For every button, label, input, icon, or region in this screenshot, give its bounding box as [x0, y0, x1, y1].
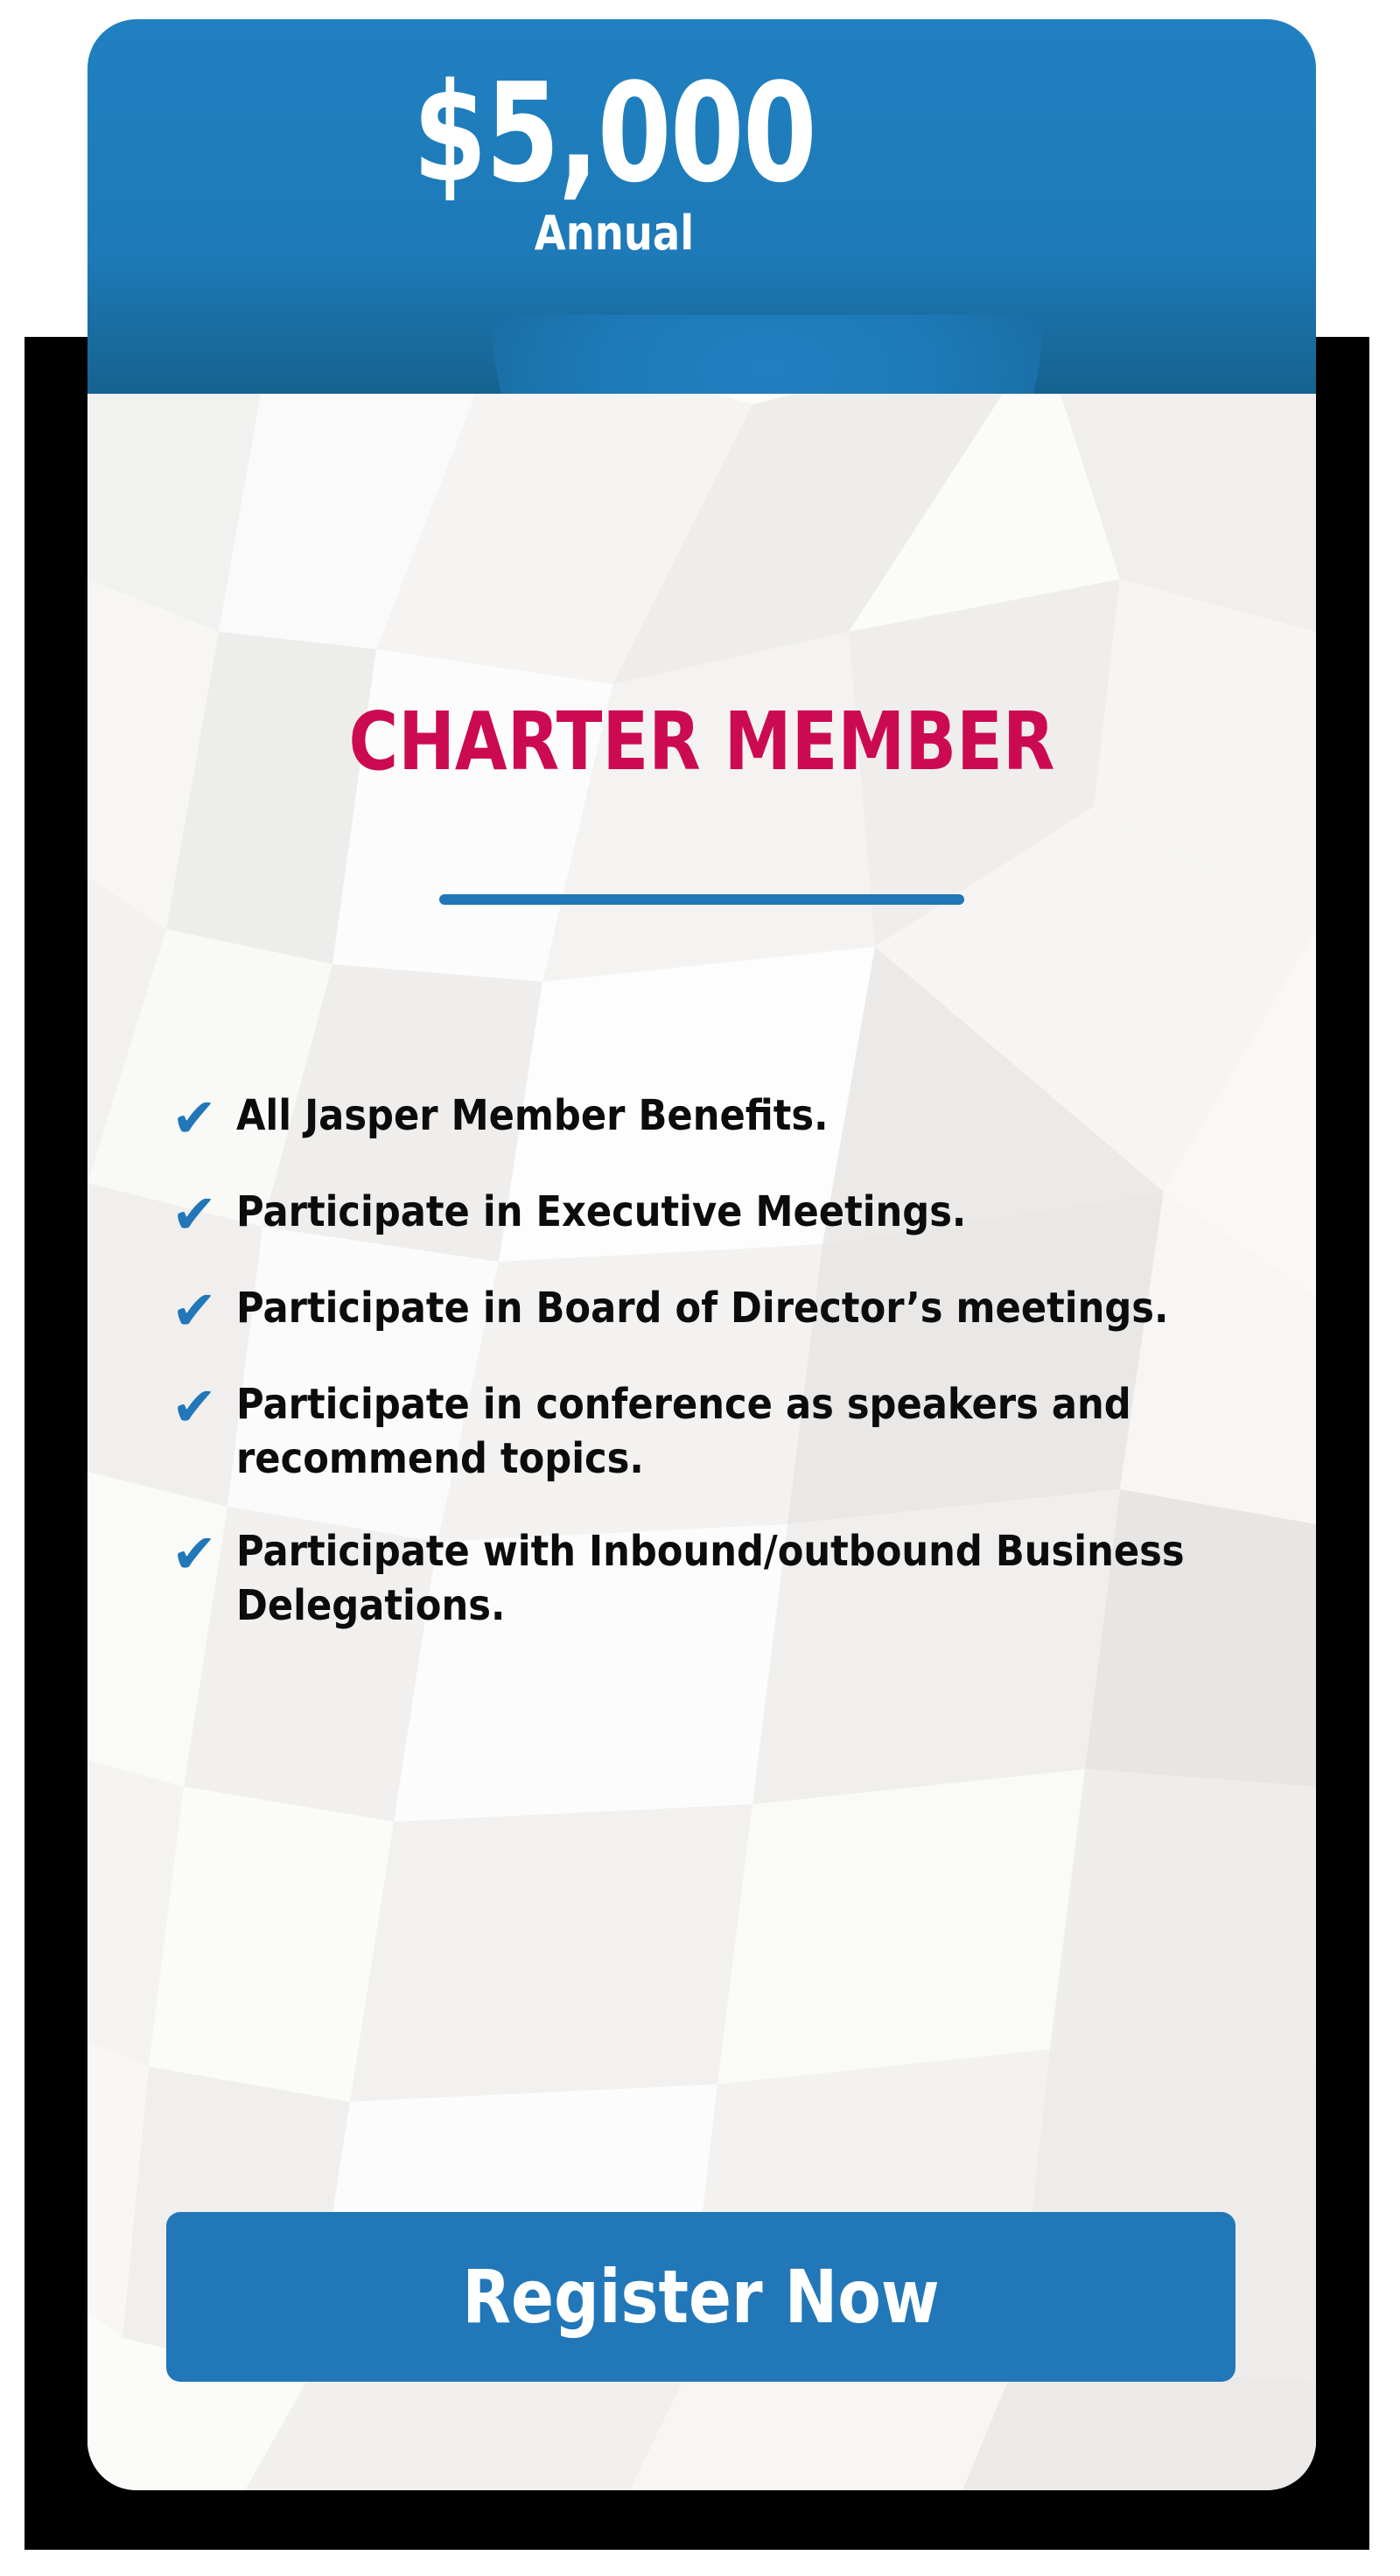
register-now-button[interactable]: Register Now: [166, 2212, 1235, 2382]
list-item-label: Participate in Board of Director’s meeti…: [236, 1281, 1193, 1335]
list-item[interactable]: ✔ All Jasper Member Benefits.: [171, 1088, 1300, 1146]
list-item-label: Participate in conference as speakers an…: [236, 1377, 1193, 1486]
list-item-label: Participate with Inbound/outbound Busine…: [236, 1524, 1193, 1633]
list-item-label: All Jasper Member Benefits.: [236, 1088, 1193, 1143]
check-icon: ✔: [171, 1377, 236, 1435]
header-bulge-shape: [492, 315, 1043, 394]
check-icon: ✔: [171, 1088, 236, 1146]
list-item[interactable]: ✔ Participate in Board of Director’s mee…: [171, 1281, 1300, 1339]
register-now-label: Register Now: [462, 2212, 939, 2382]
list-item[interactable]: ✔ Participate with Inbound/outbound Busi…: [171, 1524, 1300, 1633]
check-icon: ✔: [171, 1185, 236, 1242]
list-item[interactable]: ✔ Participate in conference as speakers …: [171, 1377, 1300, 1486]
check-icon: ✔: [171, 1281, 236, 1339]
check-icon: ✔: [171, 1524, 236, 1582]
list-item[interactable]: ✔ Participate in Executive Meetings.: [171, 1185, 1300, 1242]
list-item-label: Participate in Executive Meetings.: [236, 1185, 1193, 1239]
price-header: [87, 19, 1316, 394]
